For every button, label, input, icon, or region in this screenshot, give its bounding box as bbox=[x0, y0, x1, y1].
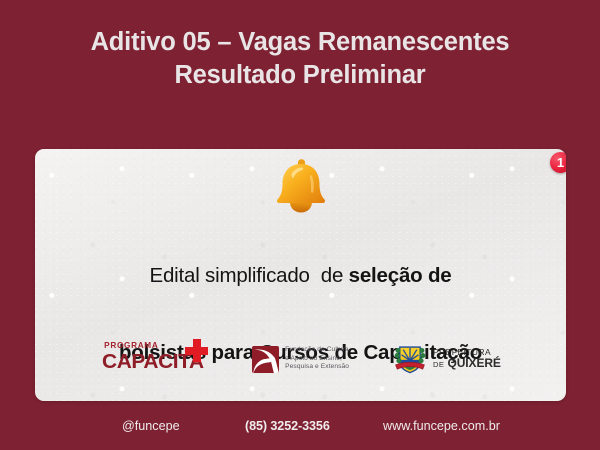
logo-prefeitura-quixere: PREFEITURA DE QUIXERÉ bbox=[393, 342, 501, 376]
footer-bar: @funcepe (85) 3252-3356 www.funcepe.com.… bbox=[0, 401, 600, 450]
page-title-line-1: Aditivo 05 – Vagas Remanescentes bbox=[91, 28, 510, 56]
fundacao-line-2: e Apoio ao Ensino, bbox=[285, 355, 349, 363]
announcement-line-1-normal: Edital simplificado de bbox=[149, 264, 348, 287]
footer-website[interactable]: www.funcepe.com.br bbox=[383, 419, 500, 433]
announcement-line-1-bold: seleção de bbox=[349, 264, 452, 287]
footer-phone[interactable]: (85) 3252-3356 bbox=[245, 419, 330, 433]
notification-badge: 1 bbox=[550, 152, 566, 173]
fundacao-text: Fundação de Cultura e Apoio ao Ensino, P… bbox=[285, 346, 349, 371]
prefeitura-de: DE bbox=[433, 360, 444, 369]
bell-icon bbox=[270, 156, 332, 216]
capacita-top-label: PROGRAMA bbox=[104, 341, 158, 350]
prefeitura-text: PREFEITURA DE QUIXERÉ bbox=[433, 348, 501, 371]
page-title-line-2: Resultado Preliminar bbox=[0, 59, 600, 92]
logo-fundacao-funcepe: Fundação de Cultura e Apoio ao Ensino, P… bbox=[252, 346, 349, 373]
prefeitura-line-1: PREFEITURA bbox=[433, 348, 501, 356]
footer-social-handle[interactable]: @funcepe bbox=[122, 419, 180, 433]
prefeitura-line-2: DE QUIXERÉ bbox=[433, 357, 501, 371]
funcepe-mark-icon bbox=[252, 346, 279, 373]
bell-notification: 1 bbox=[35, 155, 566, 217]
fundacao-line-1: Fundação de Cultura bbox=[285, 346, 349, 354]
announcement-line-1: Edital simplificado de seleção de bbox=[51, 263, 550, 289]
fundacao-line-3: Pesquisa e Extensão bbox=[285, 363, 349, 371]
prefeitura-city: QUIXERÉ bbox=[448, 356, 501, 370]
poster-root: Aditivo 05 – Vagas Remanescentes Resulta… bbox=[0, 0, 600, 450]
coat-of-arms-icon bbox=[393, 342, 427, 376]
partner-logos: PROGRAMA CAPACITA Fundação de Cultura e … bbox=[35, 331, 566, 387]
page-title: Aditivo 05 – Vagas Remanescentes Resulta… bbox=[0, 26, 600, 92]
logo-programa-capacita: PROGRAMA CAPACITA bbox=[100, 339, 208, 379]
announcement-card: 1 Edital simplificado de seleção de bols… bbox=[35, 149, 566, 401]
plus-icon bbox=[185, 339, 208, 362]
